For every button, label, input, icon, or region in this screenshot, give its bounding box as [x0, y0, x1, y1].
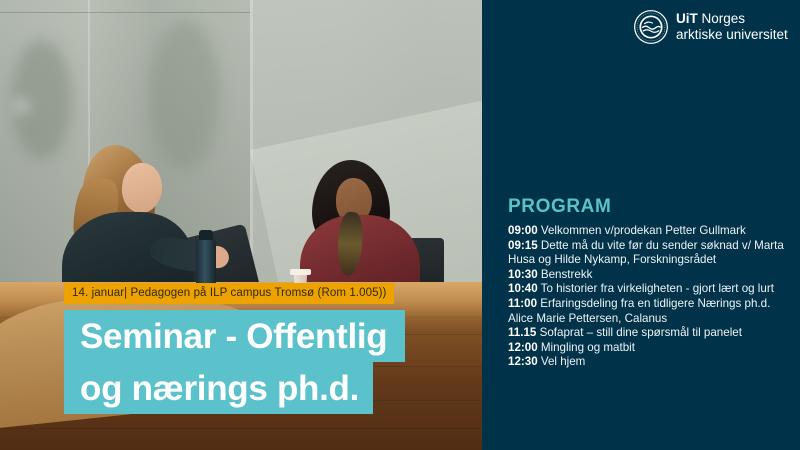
wall-panel-line	[0, 12, 250, 13]
uit-brand: UiT Norges arktiske universitet	[634, 10, 788, 44]
program-item: 12:00 Mingling og matbit	[508, 341, 790, 356]
program-item: 09:00 Velkommen v/prodekan Petter Gullma…	[508, 224, 790, 239]
program-item-time: 11.15	[508, 326, 536, 339]
program-item-continuation: Alice Marie Pettersen, Calanus	[508, 312, 790, 327]
program-item-text: Mingling og matbit	[538, 341, 635, 354]
coffee-cup-lid	[290, 269, 311, 275]
program-item: 11.15 Sofaprat – still dine spørsmål til…	[508, 326, 790, 341]
program-item-time: 11:00	[508, 297, 537, 310]
program-item-time: 10:40	[508, 282, 538, 295]
program-item-time: 09:00	[508, 224, 538, 237]
program-item: 10:40 To historier fra virkeligheten - g…	[508, 282, 790, 297]
program-heading: PROGRAM	[508, 196, 790, 218]
program-item: 11:00 Erfaringsdeling fra en tidligere N…	[508, 297, 790, 312]
program-item: 10:30 Benstrekk	[508, 268, 790, 283]
poster-title: Seminar - Offentlig og nærings ph.d.	[64, 310, 405, 414]
brand-name: UiT	[676, 11, 698, 26]
program-item-time: 12:00	[508, 341, 538, 354]
program-section: PROGRAM 09:00 Velkommen v/prodekan Pette…	[508, 196, 790, 370]
uit-brand-text: UiT Norges arktiske universitet	[676, 11, 788, 43]
title-line-1: Seminar - Offentlig	[64, 310, 405, 362]
program-item-text: Dette må du vite før du sender søknad v/…	[538, 239, 784, 252]
program-item-text: Benstrekk	[538, 268, 593, 281]
program-item-text: To historier fra virkeligheten - gjort l…	[538, 282, 774, 295]
program-item-time: 09:15	[508, 239, 538, 252]
wall-stain	[16, 100, 28, 112]
uit-seal-icon	[634, 10, 668, 44]
program-item-time: 12:30	[508, 355, 538, 368]
program-item: 12:30 Vel hjem	[508, 355, 790, 370]
program-item-text: Vel hjem	[538, 355, 586, 368]
info-panel: UiT Norges arktiske universitet PROGRAM …	[482, 0, 800, 450]
poster: 14. januar| Pedagogen på ILP campus Trom…	[0, 0, 800, 450]
date-location-banner: 14. januar| Pedagogen på ILP campus Trom…	[64, 283, 394, 304]
brand-subtitle: arktiske universitet	[676, 27, 788, 43]
program-item-continuation: Husa og Hilde Nykamp, Forskningsrådet	[508, 253, 790, 268]
program-item-text: Sofaprat – still dine spørsmål til panel…	[536, 326, 742, 339]
program-item: 09:15 Dette må du vite før du sender søk…	[508, 239, 790, 254]
wall-stain	[150, 20, 220, 170]
program-item-text: Erfaringsdeling fra en tidligere Nærings…	[537, 297, 770, 310]
program-item-time: 10:30	[508, 268, 538, 281]
water-bottle-cap	[199, 230, 213, 240]
brand-name-rest: Norges	[698, 11, 745, 26]
title-line-2: og nærings ph.d.	[64, 362, 373, 414]
program-item-text: Velkommen v/prodekan Petter Gullmark	[538, 224, 746, 237]
